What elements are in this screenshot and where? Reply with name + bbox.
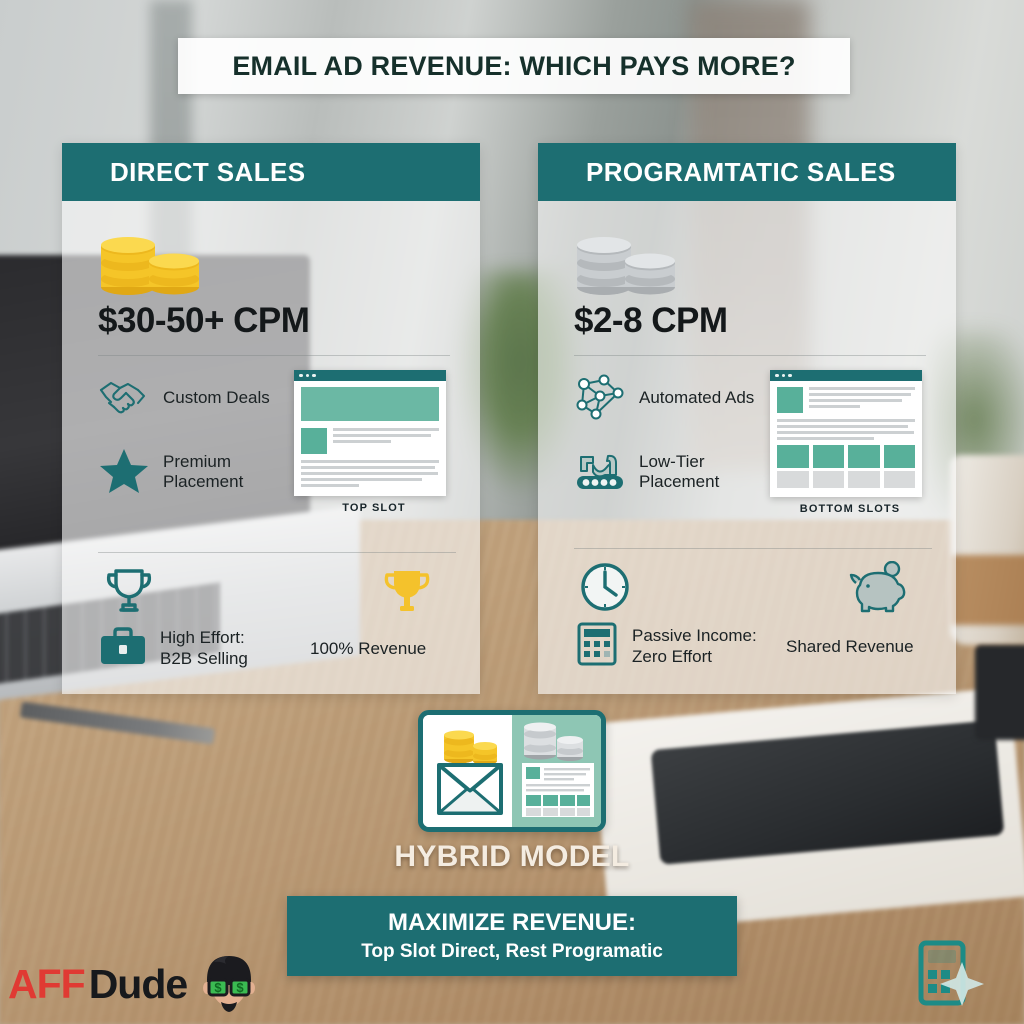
cta-banner: MAXIMIZE REVENUE: Top Slot Direct, Rest … [287,896,737,976]
browser-top-slot-mockup: TOP SLOT [294,370,454,518]
hybrid-direct-half [423,715,512,827]
logo-text-aff: AFF [8,961,85,1008]
ad-slot [777,445,809,468]
revenue-label: 100% Revenue [310,639,426,659]
piggy-bank-icon [848,561,910,617]
briefcase-icon [98,625,148,672]
direct-cpm-value: $30-50+ CPM [98,301,456,341]
background-coffee-cup-sleeve [950,555,1024,625]
divider-line [98,355,450,356]
direct-features: Custom Deals Premium Placement [98,370,456,518]
hybrid-split-email-icon [418,710,606,832]
gold-coins-icon [98,217,456,295]
silver-coins-icon [574,217,932,295]
effort-label: Passive Income: Zero Effort [632,626,757,667]
ad-caption [848,471,880,488]
divider-line [98,552,456,553]
svg-text:$: $ [237,980,245,995]
hybrid-model-title: HYBRID MODEL [0,840,1024,874]
trophy-gold-icon [380,565,434,621]
star-icon [98,446,150,499]
ad-slot [813,445,845,468]
cta-sub-text: Top Slot Direct, Rest Programatic [361,941,663,963]
page-title-text: EMAIL AD REVENUE: WHICH PAYS MORE? [232,51,795,82]
panel-direct-header-label: DIRECT SALES [110,157,305,188]
feature-label: Custom Deals [163,388,270,408]
feature-label: Low-Tier Placement [639,452,764,493]
calculator-sparkle-icon [913,938,987,1012]
window-dot [775,374,779,378]
browser-bottom-slots-mockup: BOTTOM SLOTS [770,370,930,518]
window-dot [312,374,316,378]
feature-label: Premium Placement [163,452,288,493]
feature-row: Automated Ads [574,370,764,426]
logo-text-dude: Dude [89,961,188,1008]
panel-direct-body: $30-50+ CPM [62,201,480,694]
hybrid-programmatic-half [512,715,601,827]
direct-bottom-block: High Effort: B2B Selling 100% Revenue [98,552,456,672]
panel-direct-sales: DIRECT SALES [62,143,480,694]
feature-row: Low-Tier Placement [574,444,764,500]
brand-logo[interactable]: AFF Dude $ $ [8,946,265,1023]
window-dot [782,374,786,378]
panel-programmatic-sales: PROGRAMTATIC SALES [538,143,956,694]
top-slot-label: TOP SLOT [294,502,454,514]
content-thumbnail [777,387,803,413]
ad-slot [848,445,880,468]
bottom-slots-label: BOTTOM SLOTS [770,503,930,515]
panel-direct-header: DIRECT SALES [62,143,480,201]
panel-programmatic-header-label: PROGRAMTATIC SALES [586,157,896,188]
calculator-icon [574,621,620,672]
ad-slot [884,445,916,468]
ad-caption [884,471,916,488]
trophy-outline-icon [102,565,156,621]
conveyor-belt-icon [574,447,626,498]
top-slot-ad-banner [301,387,439,421]
window-dot [299,374,303,378]
panel-programmatic-header: PROGRAMTATIC SALES [538,143,956,201]
panel-programmatic-body: $2-8 CPM [538,201,956,694]
revenue-label: Shared Revenue [786,637,914,657]
window-dot [306,374,310,378]
divider-line [574,355,926,356]
divider-line [574,548,932,549]
network-nodes-icon [574,371,626,426]
dude-face-dollar-glasses-icon: $ $ [193,946,265,1023]
clock-icon [578,561,632,617]
ad-caption [813,471,845,488]
feature-row: Premium Placement [98,444,288,500]
content-thumbnail [301,428,327,454]
page-title: EMAIL AD REVENUE: WHICH PAYS MORE? [178,38,850,94]
browser-title-bar [294,370,446,381]
programmatic-cpm-value: $2-8 CPM [574,301,932,341]
handshake-icon [98,376,150,421]
effort-label: High Effort: B2B Selling [160,628,248,669]
window-dot [788,374,792,378]
cta-main-text: MAXIMIZE REVENUE: [388,909,636,937]
ad-caption [777,471,809,488]
feature-label: Automated Ads [639,388,754,408]
background-tablet [975,645,1024,740]
feature-row: Custom Deals [98,370,288,426]
programmatic-bottom-block: Passive Income: Zero Effort Shared Reven… [574,548,932,672]
browser-title-bar [770,370,922,381]
svg-text:$: $ [215,980,223,995]
bottom-slot-ad-grid [777,445,915,468]
programmatic-features: Automated Ads [574,370,932,518]
